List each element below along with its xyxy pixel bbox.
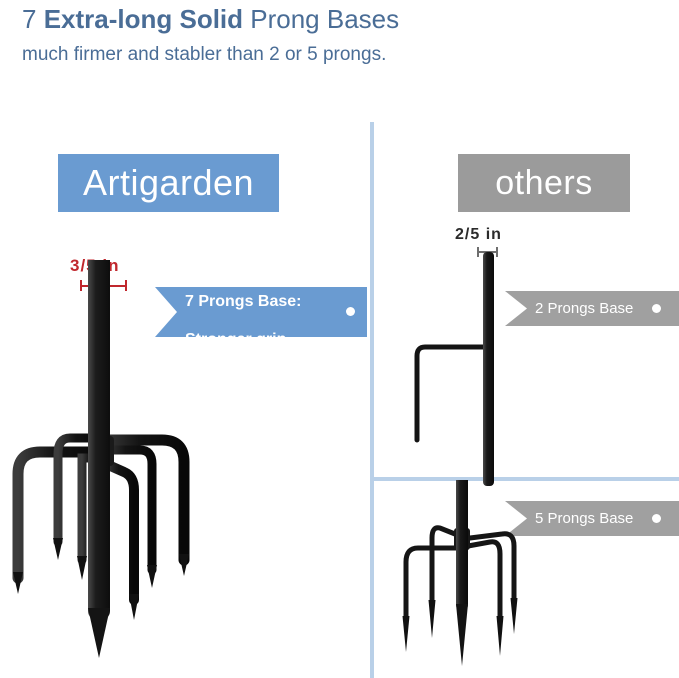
title-prefix: 7	[22, 4, 44, 34]
bullet-dot-icon	[346, 307, 355, 316]
bullet-dot-icon	[652, 514, 661, 523]
ribbon-line-1: 7 Prongs Base:	[185, 293, 301, 310]
product-image-2-prong-stake	[395, 250, 525, 490]
ribbon-label-7-prongs: 7 Prongs Base: Stronger grip	[185, 274, 301, 350]
ribbon-label-5-prongs: 5 Prongs Base	[535, 510, 633, 528]
ribbon-line-2: Stronger grip	[185, 331, 286, 348]
page-title: 7 Extra-long Solid Prong Bases	[22, 2, 662, 36]
ribbon-label-2-prongs: 2 Prongs Base	[535, 300, 633, 318]
vertical-divider	[370, 122, 374, 678]
callout-ribbon-2-prongs: 2 Prongs Base	[505, 291, 679, 326]
page-subtitle: much firmer and stabler than 2 or 5 pron…	[22, 42, 662, 68]
bullet-dot-icon	[652, 304, 661, 313]
title-emphasis: Extra-long Solid	[44, 4, 243, 34]
ribbon-body: 2 Prongs Base	[505, 291, 679, 326]
title-suffix: Prong Bases	[243, 4, 399, 34]
callout-ribbon-7-prongs: 7 Prongs Base: Stronger grip	[155, 287, 367, 337]
dimension-label-right: 2/5 in	[455, 226, 502, 244]
ribbon-body: 7 Prongs Base: Stronger grip	[155, 287, 367, 337]
infographic-page: 7 Extra-long Solid Prong Bases much firm…	[0, 0, 679, 678]
brand-label-artigarden: Artigarden	[58, 154, 279, 212]
brand-label-others: others	[458, 154, 630, 212]
